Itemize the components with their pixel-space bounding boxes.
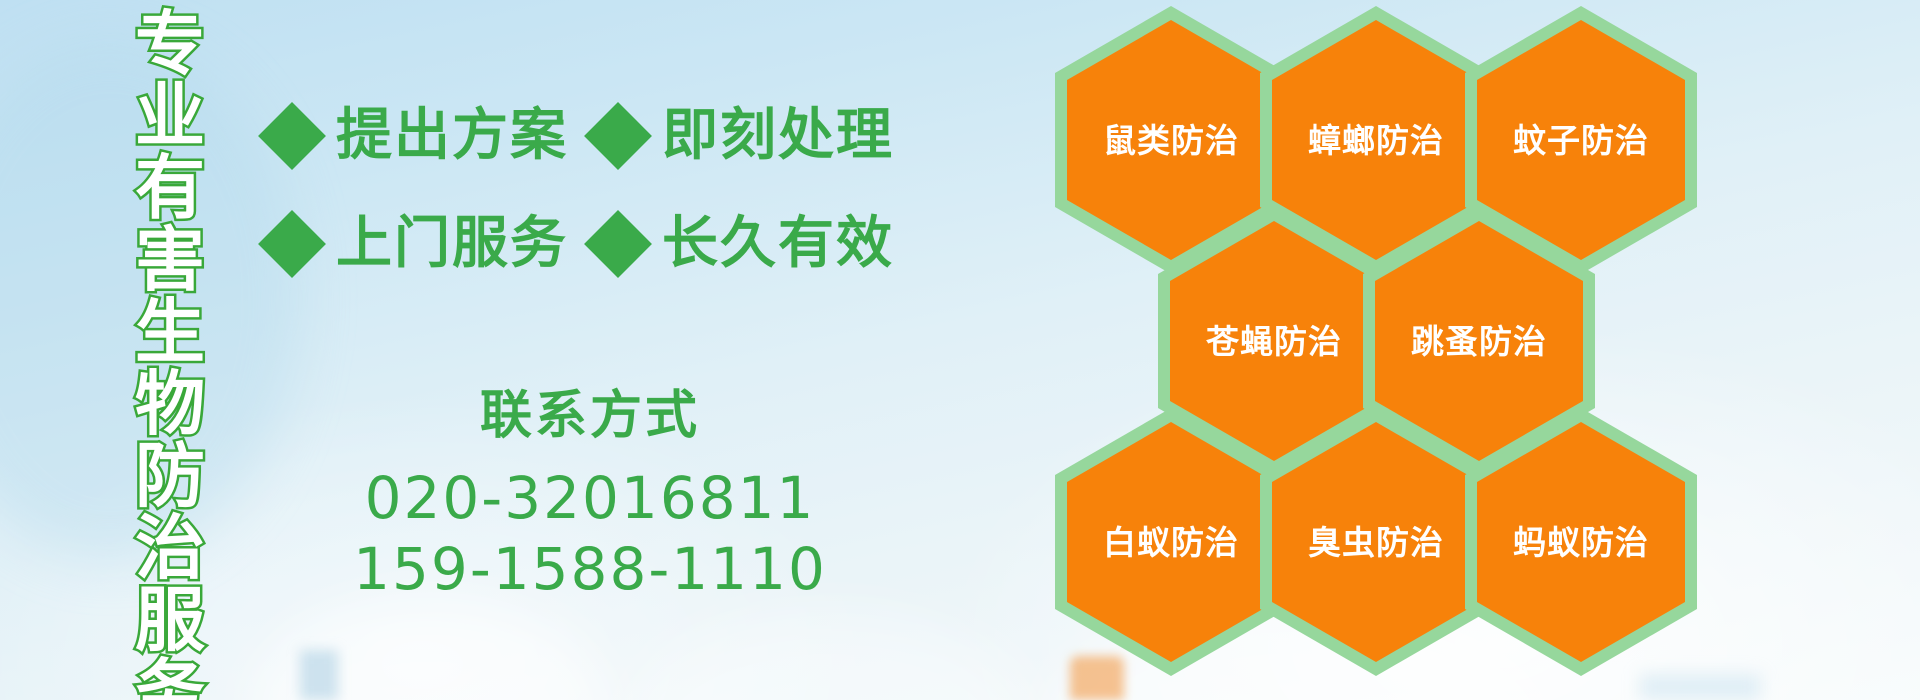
vertical-headline: 专 业 有 害 生 物 防 治 服 务 (118, 8, 222, 692)
service-label: 鼠类防治 (1103, 124, 1239, 157)
service-label: 蚂蚁防治 (1513, 526, 1649, 559)
feature-item-long-lasting: 长久有效 (594, 216, 894, 272)
vertical-headline-char: 生 (135, 296, 205, 368)
feature-item-onsite-service: 上门服务 (268, 216, 568, 272)
feature-label: 长久有效 (662, 216, 894, 272)
vertical-headline-char: 有 (135, 152, 205, 224)
vertical-headline-char: 治 (135, 512, 205, 584)
feature-row: 上门服务 长久有效 (268, 190, 888, 298)
background-blob (250, 600, 610, 700)
vertical-headline-char: 务 (135, 656, 205, 700)
background-blob (620, 610, 1040, 700)
feature-label: 即刻处理 (662, 108, 894, 164)
contact-phone-mobile[interactable]: 159-1588-1110 (300, 534, 880, 605)
service-label: 蚊子防治 (1513, 124, 1649, 157)
service-hexagon-grid: 鼠类防治 蟑螂防治 蚊子防治 苍蝇防治 跳蚤防治 白蚁防治 (1055, 0, 1795, 700)
hexagon-inner: 蚂蚁防治 (1477, 422, 1685, 662)
service-label: 白蚁防治 (1103, 526, 1239, 559)
contact-heading: 联系方式 (300, 388, 880, 445)
feature-list: 提出方案 即刻处理 上门服务 长久有效 (268, 82, 888, 298)
feature-item-propose-plan: 提出方案 (268, 108, 568, 164)
feature-item-immediate-action: 即刻处理 (594, 108, 894, 164)
diamond-bullet-icon (258, 210, 326, 278)
vertical-headline-char: 防 (135, 440, 205, 512)
diamond-bullet-icon (584, 210, 652, 278)
contact-phone-landline[interactable]: 020-32016811 (300, 463, 880, 534)
service-label: 蟑螂防治 (1308, 124, 1444, 157)
feature-label: 上门服务 (336, 216, 568, 272)
vertical-headline-char: 业 (135, 80, 205, 152)
service-label: 跳蚤防治 (1411, 325, 1547, 358)
vertical-headline-char: 服 (135, 584, 205, 656)
background-shape (300, 650, 338, 700)
vertical-headline-char: 害 (135, 224, 205, 296)
hexagon-inner: 臭虫防治 (1272, 422, 1480, 662)
hexagon-inner: 白蚁防治 (1067, 422, 1275, 662)
diamond-bullet-icon (258, 102, 326, 170)
hexagon-inner: 鼠类防治 (1067, 20, 1275, 260)
service-label: 苍蝇防治 (1206, 325, 1342, 358)
vertical-headline-char: 专 (135, 8, 205, 80)
feature-label: 提出方案 (336, 108, 568, 164)
feature-row: 提出方案 即刻处理 (268, 82, 888, 190)
contact-block: 联系方式 020-32016811 159-1588-1110 (300, 388, 880, 605)
diamond-bullet-icon (584, 102, 652, 170)
service-label: 臭虫防治 (1308, 526, 1444, 559)
pest-control-banner: 专 业 有 害 生 物 防 治 服 务 提出方案 即刻处理 上门服务 (0, 0, 1920, 700)
vertical-headline-char: 物 (135, 368, 205, 440)
